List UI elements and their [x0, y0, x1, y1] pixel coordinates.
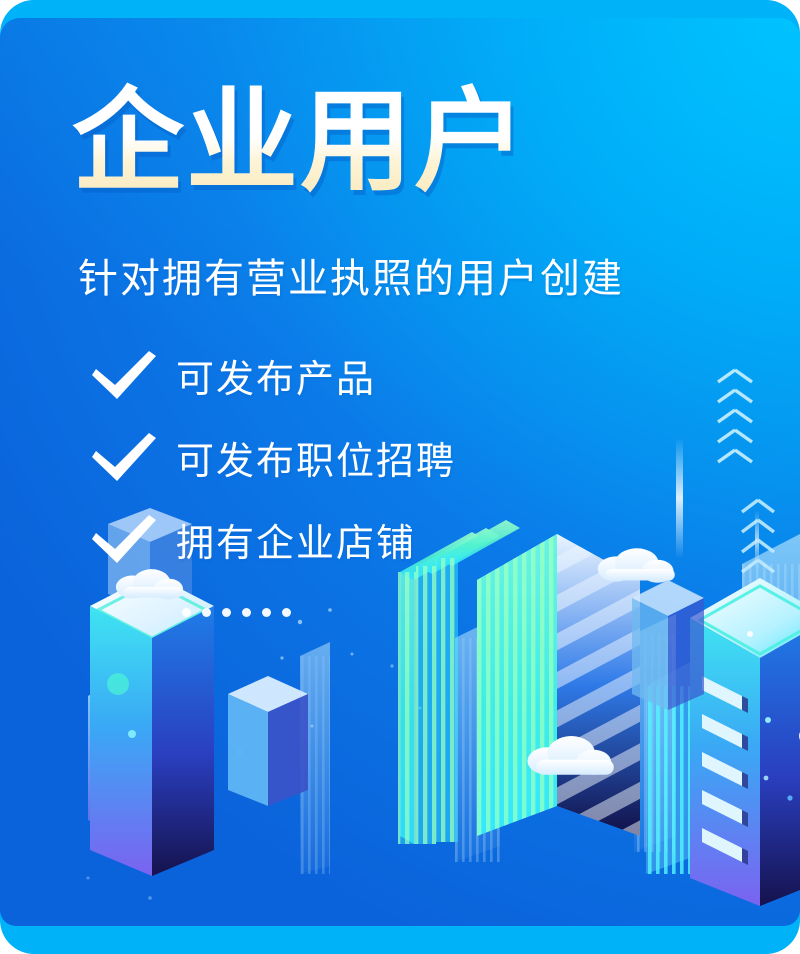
check-icon — [86, 511, 162, 567]
enterprise-user-card: 企业用户 针对拥有营业执照的用户创建 可发布产品 可发布职位招聘 — [0, 0, 800, 954]
tower-right-main — [690, 578, 800, 906]
ellipsis-dots — [182, 608, 291, 617]
list-item: 可发布产品 — [86, 340, 456, 410]
page-title: 企业用户 — [72, 76, 528, 208]
list-item-label: 拥有企业店铺 — [176, 512, 416, 567]
list-item: 拥有企业店铺 — [86, 504, 456, 574]
tower-left-main — [88, 574, 214, 876]
small-block-mid — [228, 676, 308, 806]
ellipsis-dot — [202, 608, 211, 617]
list-item-label: 可发布职位招聘 — [176, 430, 456, 485]
ellipsis-dot — [282, 608, 291, 617]
ellipsis-dot — [222, 608, 231, 617]
ellipsis-dot — [242, 608, 251, 617]
check-icon — [86, 429, 162, 485]
ellipsis-dot — [262, 608, 271, 617]
feature-list: 可发布产品 可发布职位招聘 拥有企业店铺 — [86, 340, 456, 586]
list-item: 可发布职位招聘 — [86, 422, 456, 492]
list-item-label: 可发布产品 — [176, 348, 376, 403]
small-block-right — [632, 580, 704, 710]
card-panel: 企业用户 针对拥有营业执照的用户创建 可发布产品 可发布职位招聘 — [0, 18, 800, 926]
check-icon — [86, 347, 162, 403]
page-subtitle: 针对拥有营业执照的用户创建 — [78, 246, 624, 304]
cloud-icon — [598, 548, 675, 583]
ellipsis-dot — [182, 608, 191, 617]
chevron-arrow-stack-right — [718, 370, 752, 462]
